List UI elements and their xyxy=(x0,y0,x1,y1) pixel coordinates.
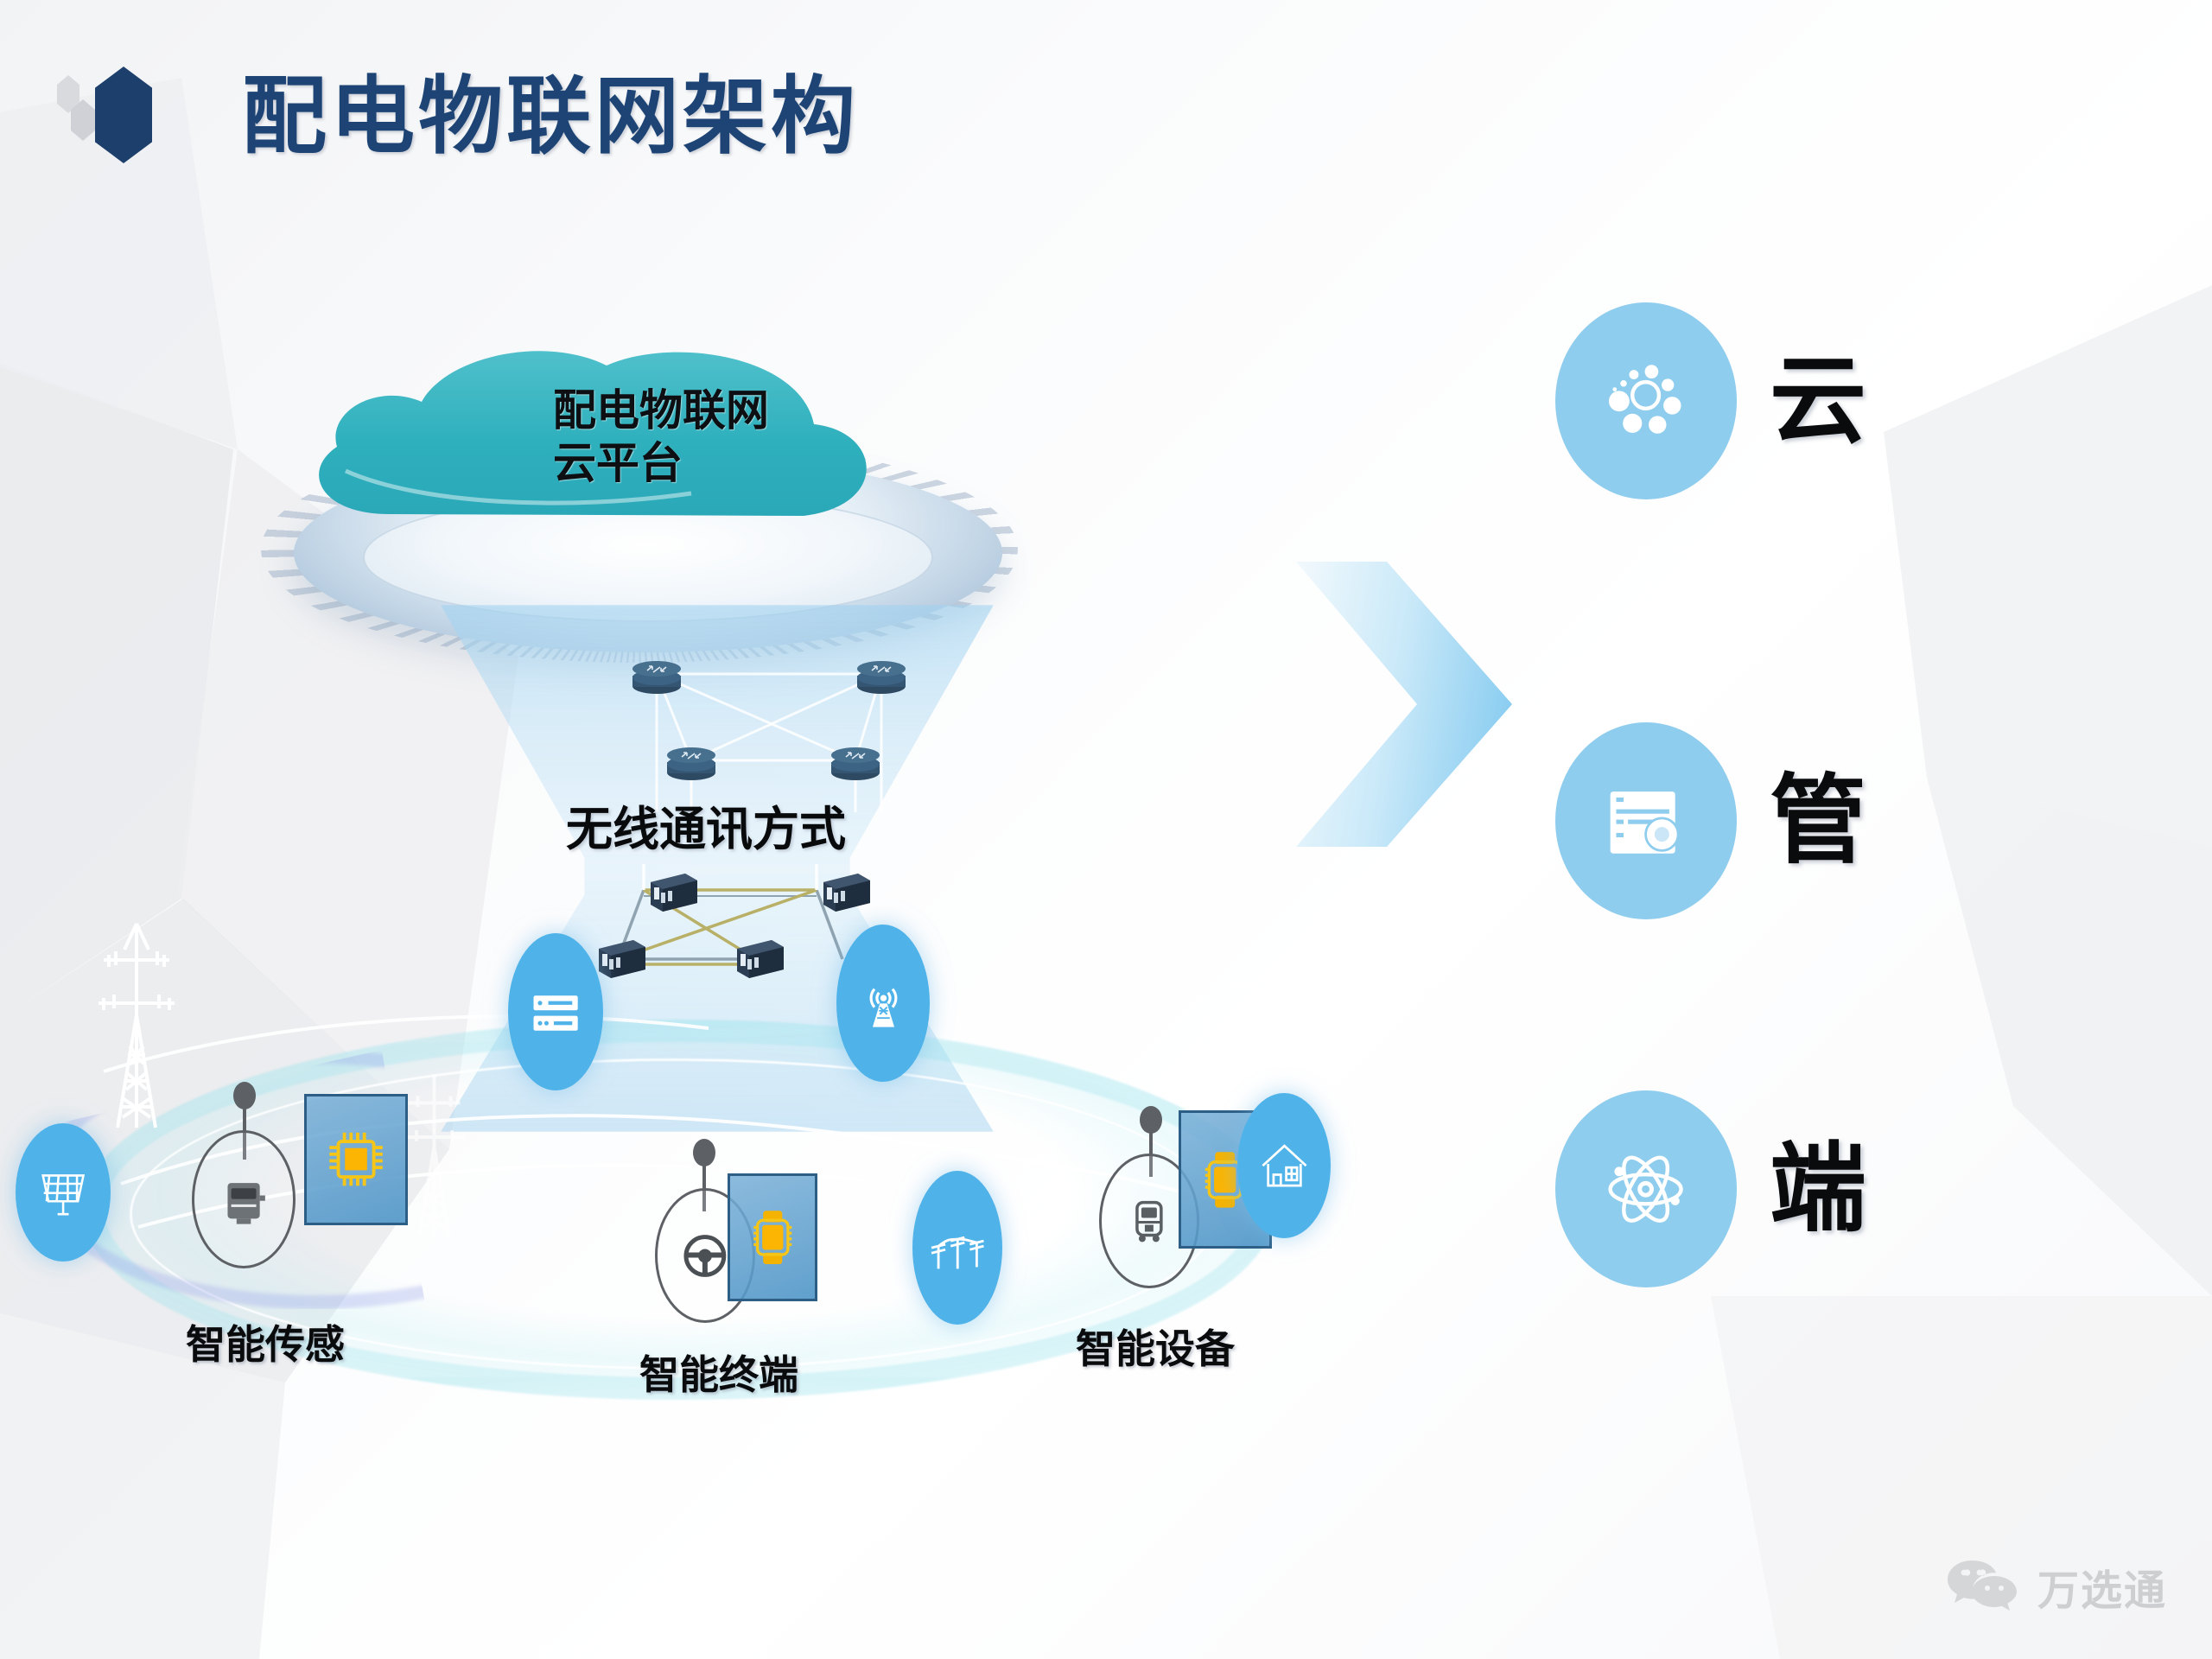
hexagon-main-icon xyxy=(95,67,152,163)
chip-server[interactable] xyxy=(508,933,603,1090)
stage-pipe[interactable]: 管 xyxy=(1555,722,1866,919)
stage-cloud[interactable]: 云 xyxy=(1555,302,1866,499)
chip-processor-card[interactable] xyxy=(304,1094,408,1225)
watermark-text: 万选通 xyxy=(2037,1556,2167,1617)
label-smart-sensing: 智能传感 xyxy=(186,1313,345,1370)
stage-pipe-label: 管 xyxy=(1770,772,1866,869)
chip-smart-home[interactable] xyxy=(1237,1093,1331,1238)
train-icon xyxy=(1122,1184,1177,1259)
wireless-communication-label: 无线通讯方式 xyxy=(566,791,846,859)
chip-solar-panel[interactable] xyxy=(16,1123,111,1262)
router-icon xyxy=(664,743,718,783)
label-smart-terminal: 智能终端 xyxy=(639,1344,798,1401)
smartwatch-icon xyxy=(742,1193,804,1281)
chip-power-line[interactable] xyxy=(912,1171,1002,1325)
stage-terminal-label: 端 xyxy=(1770,1141,1866,1237)
cloud-nodes-icon xyxy=(1599,350,1693,453)
slide-canvas: 配电物联网架构 配电物联网 云平台 xyxy=(0,0,2212,1659)
sensor-icon xyxy=(215,1160,272,1237)
stage-terminal-circle xyxy=(1555,1090,1737,1287)
stage-terminal[interactable]: 端 xyxy=(1555,1090,1866,1287)
router-icon xyxy=(630,657,683,696)
sensor-pin-head xyxy=(233,1082,256,1109)
label-smart-device: 智能设备 xyxy=(1076,1318,1235,1375)
antenna-tower-icon xyxy=(855,955,912,1052)
router-icon xyxy=(829,743,882,783)
solar-panel-icon xyxy=(34,1149,92,1235)
stage-pipe-circle xyxy=(1555,722,1737,919)
terminal-pin-head xyxy=(693,1139,715,1166)
cloud-platform-group: 配电物联网 云平台 xyxy=(285,341,1011,626)
house-icon xyxy=(1255,1121,1313,1211)
server-icon xyxy=(526,963,585,1061)
chip-sensor[interactable] xyxy=(192,1130,296,1268)
router-icon xyxy=(855,657,908,696)
cloud-platform-label: 配电物联网 云平台 xyxy=(553,385,916,490)
stage-cloud-label: 云 xyxy=(1770,353,1866,449)
stage-cloud-circle xyxy=(1555,302,1737,499)
flow-arrow xyxy=(1296,562,1512,847)
chip-antenna-tower[interactable] xyxy=(836,925,930,1082)
steering-wheel-icon xyxy=(677,1218,733,1294)
atom-icon xyxy=(1599,1138,1693,1241)
network-switch-icon xyxy=(820,868,874,913)
page-header: 配电物联网架构 xyxy=(52,48,859,170)
wechat-icon xyxy=(1946,1555,2018,1618)
chip-smartwatch-card[interactable] xyxy=(728,1173,817,1301)
server-rack-icon xyxy=(1599,770,1693,873)
watermark: 万选通 xyxy=(1946,1555,2167,1618)
network-switch-icon xyxy=(647,868,701,913)
hexagon-logo-group xyxy=(52,61,112,156)
device-pin-head xyxy=(1140,1106,1162,1134)
power-line-icon xyxy=(930,1200,985,1295)
page-title: 配电物联网架构 xyxy=(242,48,859,170)
chip-icon xyxy=(321,1114,391,1205)
background-polygons xyxy=(0,0,2212,1659)
